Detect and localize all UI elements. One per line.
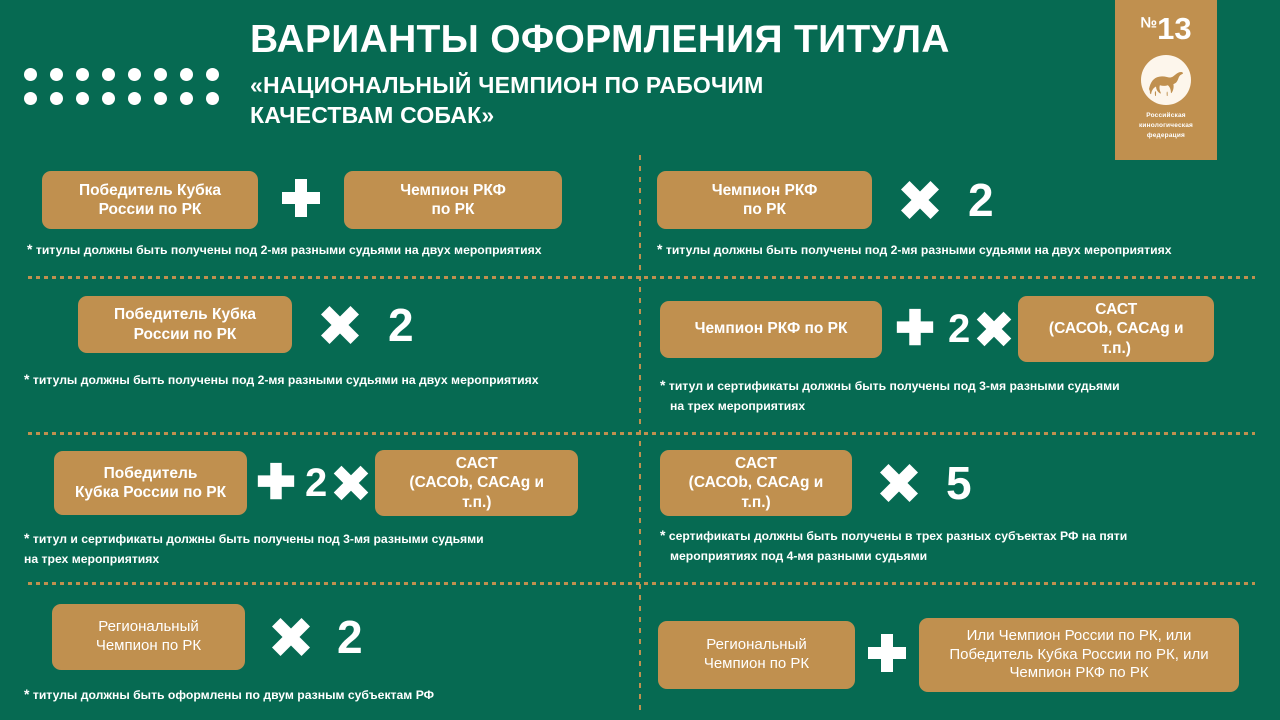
pill-cact-certificates[interactable]: САСТ (САСОb, САСАg и т.п.) xyxy=(660,450,852,516)
pill-line-2: Победитель Кубка России по РК, или xyxy=(949,646,1208,665)
note-line-2: мероприятиях xyxy=(451,373,538,387)
pill-champion-rkf-rk[interactable]: Чемпион РКФ по РК xyxy=(344,171,562,229)
note-star: * xyxy=(27,241,32,257)
pill-line-1: САСТ xyxy=(1049,300,1184,319)
option-5: Победитель Кубка России по РК 2 САСТ (СА… xyxy=(54,450,634,569)
pill-line-1: Или Чемпион России по РК, или xyxy=(949,627,1208,646)
note-line-2: на трех мероприятиях xyxy=(24,550,624,569)
times-icon xyxy=(970,309,1018,349)
option-5-items: Победитель Кубка России по РК 2 САСТ (СА… xyxy=(54,450,634,516)
option-4-items: Чемпион РКФ по РК 2 САСТ (САСОb, САСАg и… xyxy=(660,296,1260,362)
times-icon xyxy=(245,615,337,659)
pill-regional-champion-rk[interactable]: Региональный Чемпион по РК xyxy=(658,621,855,689)
plus-icon xyxy=(247,461,305,505)
pill-line-1: Чемпион РКФ xyxy=(400,181,506,200)
horizontal-divider-2 xyxy=(28,432,1255,435)
option-6-note: * сертификаты должны быть получены в тре… xyxy=(660,525,1260,566)
borzoi-dog-icon xyxy=(1141,55,1191,105)
badge-caption-line-1: Российская xyxy=(1139,111,1193,121)
multiplier-2: 2 xyxy=(948,309,970,349)
option-8-items: Региональный Чемпион по РК Или Чемпион Р… xyxy=(658,618,1258,692)
note-line-2: на трех мероприятиях xyxy=(670,397,1250,416)
plus-icon xyxy=(882,307,948,351)
option-6-items: САСТ (САСОb, САСАg и т.п.) 5 xyxy=(660,450,1260,516)
pill-cact-certificates[interactable]: САСТ (САСОb, САСАg и т.п.) xyxy=(375,450,578,516)
rkf-badge: №13 Российская кинологическая федерация xyxy=(1115,0,1217,160)
option-1-note: * титулы должны быть получены под 2-мя р… xyxy=(27,239,625,261)
option-3: Победитель Кубка России по РК 2 * титулы… xyxy=(78,296,638,391)
badge-caption-line-3: федерация xyxy=(1139,131,1193,141)
badge-caption-line-2: кинологическая xyxy=(1139,121,1193,131)
horizontal-divider-1 xyxy=(28,276,1255,279)
pill-line-2: по РК xyxy=(400,200,506,219)
option-2: Чемпион РКФ по РК 2 * титулы должны быть… xyxy=(657,171,1257,261)
pill-line-1: Победитель xyxy=(75,464,226,483)
option-1-items: Победитель Кубка России по РК Чемпион РК… xyxy=(42,171,602,229)
option-8: Региональный Чемпион по РК Или Чемпион Р… xyxy=(658,618,1258,692)
pill-line-2: по РК xyxy=(712,200,818,219)
pill-line-3: т.п.) xyxy=(409,493,544,512)
note-line-2: мероприятиях xyxy=(1084,243,1171,257)
pill-line-2: (САСОb, САСАg и xyxy=(689,473,824,492)
note-line-1: титулы должны быть получены под 2-мя раз… xyxy=(36,243,451,257)
note-line-2: мероприятиях xyxy=(454,243,541,257)
pill-line-2: Кубка России по РК xyxy=(75,483,226,502)
page-subtitle-line-2: КАЧЕСТВАМ СОБАК» xyxy=(250,100,1110,130)
option-6: САСТ (САСОb, САСАg и т.п.) 5 * сертифика… xyxy=(660,450,1260,566)
pill-line-2: (САСОb, САСАg и xyxy=(1049,319,1184,338)
pill-alternative-titles[interactable]: Или Чемпион России по РК, или Победитель… xyxy=(919,618,1239,692)
pill-line-3: Чемпион РКФ по РК xyxy=(949,664,1208,683)
decorative-dots xyxy=(24,68,232,116)
pill-winner-cup-russia-rk[interactable]: Победитель Кубка России по РК xyxy=(54,451,247,515)
plus-icon xyxy=(855,632,919,678)
vertical-divider xyxy=(639,155,641,715)
note-line-1: титул и сертификаты должны быть получены… xyxy=(33,532,484,546)
pill-line-1: Победитель Кубка xyxy=(114,305,256,324)
note-star: * xyxy=(24,530,29,546)
note-line-2: мероприятиях под 4-мя разными судьями xyxy=(670,547,1260,566)
pill-line-1: Чемпион РКФ xyxy=(712,181,818,200)
times-icon xyxy=(327,463,375,503)
note-star: * xyxy=(24,686,29,702)
note-line-1: титулы должны быть получены под 2-мя раз… xyxy=(666,243,1081,257)
option-7-items: Региональный Чемпион по РК 2 xyxy=(52,604,612,670)
pill-regional-champion-rk[interactable]: Региональный Чемпион по РК xyxy=(52,604,245,670)
pill-line-3: т.п.) xyxy=(1049,339,1184,358)
pill-cact-certificates[interactable]: САСТ (САСОb, САСАg и т.п.) xyxy=(1018,296,1214,362)
badge-number: №13 xyxy=(1140,13,1191,44)
pill-line-1: САСТ xyxy=(689,454,824,473)
pill-line-2: России по РК xyxy=(114,325,256,344)
pill-line-1: САСТ xyxy=(409,454,544,473)
badge-caption: Российская кинологическая федерация xyxy=(1139,111,1193,141)
pill-line-2: (САСОb, САСАg и xyxy=(409,473,544,492)
badge-number-value: 13 xyxy=(1157,11,1191,46)
option-7-note: * титулы должны быть оформлены по двум р… xyxy=(24,684,624,706)
pill-line-1: Победитель Кубка xyxy=(79,181,221,200)
pill-winner-cup-russia-rk[interactable]: Победитель Кубка России по РК xyxy=(42,171,258,229)
note-star: * xyxy=(24,371,29,387)
pill-line-1: Региональный xyxy=(96,618,201,637)
multiplier-2: 2 xyxy=(337,614,363,660)
times-icon xyxy=(292,303,388,347)
option-5-note: * титул и сертификаты должны быть получе… xyxy=(24,528,624,569)
multiplier-2: 2 xyxy=(388,302,414,348)
note-line-1: титулы должны быть оформлены по двум раз… xyxy=(33,688,434,702)
page-header: ВАРИАНТЫ ОФОРМЛЕНИЯ ТИТУЛА «НАЦИОНАЛЬНЫЙ… xyxy=(0,0,1280,155)
pill-line-1: Чемпион РКФ по РК xyxy=(695,319,848,338)
pill-champion-rkf-rk[interactable]: Чемпион РКФ по РК xyxy=(657,171,872,229)
note-star: * xyxy=(657,241,662,257)
horizontal-divider-3 xyxy=(28,582,1255,585)
option-4-note: * титул и сертификаты должны быть получе… xyxy=(660,375,1250,416)
multiplier-2: 2 xyxy=(305,463,327,503)
note-line-1: титулы должны быть получены под 2-мя раз… xyxy=(33,373,448,387)
page-subtitle-line-1: «НАЦИОНАЛЬНЫЙ ЧЕМПИОН ПО РАБОЧИМ xyxy=(250,70,1110,100)
multiplier-5: 5 xyxy=(946,460,972,506)
times-icon xyxy=(872,178,968,222)
pill-winner-cup-russia-rk[interactable]: Победитель Кубка России по РК xyxy=(78,296,292,353)
badge-number-prefix: № xyxy=(1140,15,1157,32)
option-3-note: * титулы должны быть получены под 2-мя р… xyxy=(24,369,622,391)
page-title: ВАРИАНТЫ ОФОРМЛЕНИЯ ТИТУЛА xyxy=(250,20,1110,61)
option-7: Региональный Чемпион по РК 2 * титулы до… xyxy=(52,604,612,706)
note-line-1: титул и сертификаты должны быть получены… xyxy=(669,379,1120,393)
title-block: ВАРИАНТЫ ОФОРМЛЕНИЯ ТИТУЛА «НАЦИОНАЛЬНЫЙ… xyxy=(250,20,1110,131)
plus-icon xyxy=(258,177,344,223)
pill-line-2: Чемпион по РК xyxy=(704,655,809,674)
note-star: * xyxy=(660,377,665,393)
times-icon xyxy=(852,461,946,505)
page-subtitle: «НАЦИОНАЛЬНЫЙ ЧЕМПИОН ПО РАБОЧИМ КАЧЕСТВ… xyxy=(250,70,1110,131)
pill-line-2: Чемпион по РК xyxy=(96,637,201,656)
pill-line-2: России по РК xyxy=(79,200,221,219)
option-2-note: * титулы должны быть получены под 2-мя р… xyxy=(657,239,1257,261)
note-star: * xyxy=(660,527,665,543)
note-line-1: сертификаты должны быть получены в трех … xyxy=(669,529,1127,543)
pill-line-1: Региональный xyxy=(704,636,809,655)
option-3-items: Победитель Кубка России по РК 2 xyxy=(78,296,638,353)
option-2-items: Чемпион РКФ по РК 2 xyxy=(657,171,1257,229)
pill-champion-rkf-rk[interactable]: Чемпион РКФ по РК xyxy=(660,301,882,358)
option-4: Чемпион РКФ по РК 2 САСТ (САСОb, САСАg и… xyxy=(660,296,1260,416)
option-1: Победитель Кубка России по РК Чемпион РК… xyxy=(42,171,602,261)
multiplier-2: 2 xyxy=(968,177,994,223)
pill-line-3: т.п.) xyxy=(689,493,824,512)
